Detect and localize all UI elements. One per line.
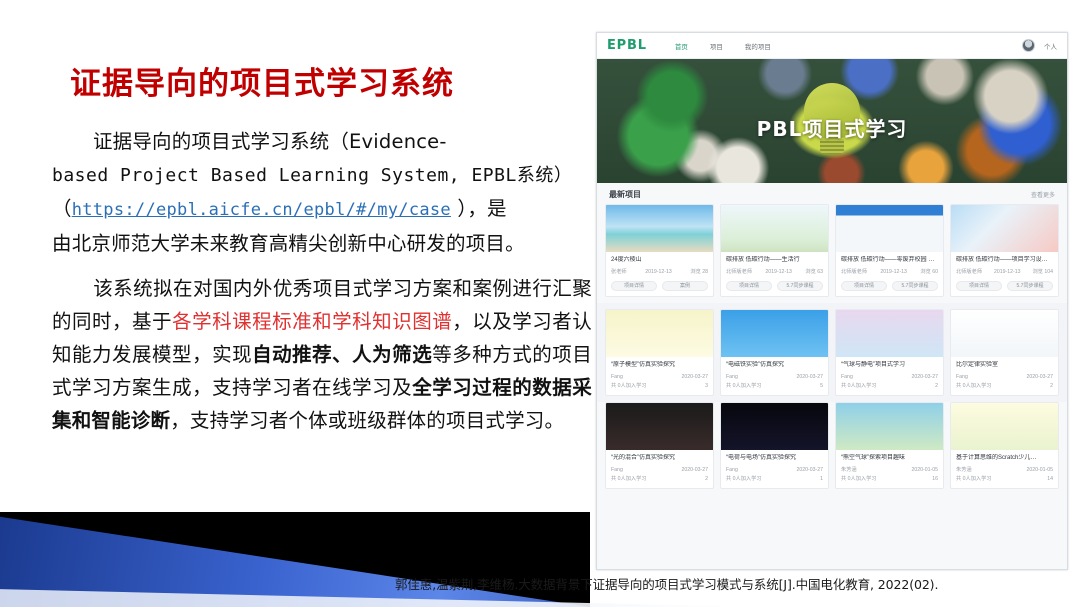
card-thumbnail [606, 310, 713, 357]
project-card[interactable]: “熊空气球”探索项目趣味 朱芳涵 2020-01-05 共 0人加入学习 16 [835, 402, 944, 489]
card-title: 基于计算思维的Scratch少儿… [956, 454, 1053, 463]
card-thumbnail [836, 205, 943, 252]
view-more-link[interactable]: 查看更多 [1031, 190, 1055, 199]
card-thumbnail [951, 403, 1058, 450]
card-learners: 共 0人加入学习 [956, 382, 991, 390]
card-secondary-button[interactable]: 5.7同步课程 [777, 281, 823, 291]
card-thumbnail [951, 310, 1058, 357]
project-card[interactable]: “电磁铁实验”仿真探究 Fang 2020-03-27 共 0人加入学习 5 [720, 309, 829, 396]
card-author: Fang [726, 466, 738, 474]
card-author: 北师版老师 [841, 268, 867, 276]
card-date: 2020-03-27 [681, 373, 708, 381]
project-row-3: “光的混合”仿真实验探究 Fang 2020-03-27 共 0人加入学习 2 … [597, 402, 1067, 495]
card-views: 2 [1050, 382, 1053, 390]
card-author: 北师版老师 [956, 268, 982, 276]
card-views: 14 [1047, 475, 1053, 483]
card-date: 2019-12-13 [765, 268, 792, 276]
card-learners: 共 0人加入学习 [726, 475, 761, 483]
card-date: 2019-12-13 [880, 268, 907, 276]
card-thumbnail [721, 310, 828, 357]
card-views: 2 [705, 475, 708, 483]
intro-text-4: 由北京师范大学未来教育高精尖创新中心研发的项目。 [52, 232, 525, 255]
card-detail-button[interactable]: 项目详情 [611, 281, 657, 291]
card-detail-button[interactable]: 项目详情 [841, 281, 887, 291]
card-author: 张老师 [611, 268, 627, 276]
latest-projects-bar: 最新项目 查看更多 [597, 183, 1067, 204]
project-card[interactable]: “光的混合”仿真实验探究 Fang 2020-03-27 共 0人加入学习 2 [605, 402, 714, 489]
card-title: 24度六棱山 [611, 256, 708, 265]
card-date: 2020-01-05 [911, 466, 938, 474]
epbl-website-screenshot: EPBL 首页 项目 我的项目 个人 PBL项目式学习 最新项目 查看更多 [596, 32, 1068, 570]
card-date: 2020-03-27 [796, 466, 823, 474]
project-card[interactable]: 碳排放 低碳行动——项目学习设计研… 北师版老师 2019-12-13 浏览 1… [950, 204, 1059, 297]
avatar[interactable] [1022, 39, 1035, 52]
card-views: 16 [932, 475, 938, 483]
card-secondary-button[interactable]: 案例 [662, 281, 708, 291]
desc-text-4: ，支持学习者个体或班级群体的项目式学习。 [170, 409, 564, 432]
card-thumbnail [721, 205, 828, 252]
card-author: Fang [841, 373, 853, 381]
card-learners: 共 0人加入学习 [726, 382, 761, 390]
project-card[interactable]: 比尔定律实验室 Fang 2020-03-27 共 0人加入学习 2 [950, 309, 1059, 396]
card-title: 比尔定律实验室 [956, 361, 1053, 370]
paragraph-description: 该系统拟在对国内外优秀项目式学习方案和案例进行汇聚的同时，基于各学科课程标准和学… [52, 272, 592, 437]
card-count: 浏览 60 [920, 268, 938, 276]
card-count: 浏览 28 [690, 268, 708, 276]
project-row-1: 24度六棱山 张老师 2019-12-13 浏览 28 项目详情 案例 碳排放 … [597, 204, 1067, 303]
card-count: 浏览 63 [805, 268, 823, 276]
desc-bold-recommend: 自动推荐、人为筛选 [252, 343, 432, 366]
card-author: Fang [611, 466, 623, 474]
nav-item-home[interactable]: 首页 [675, 41, 688, 51]
card-learners: 共 0人加入学习 [611, 382, 646, 390]
user-name-label: 个人 [1044, 41, 1057, 51]
left-content-column: 证据导向的项目式学习系统 证据导向的项目式学习系统（Evidence- base… [52, 66, 592, 437]
card-author: Fang [726, 373, 738, 381]
card-date: 2020-01-05 [1026, 466, 1053, 474]
card-views: 3 [705, 382, 708, 390]
card-date: 2020-03-27 [796, 373, 823, 381]
card-date: 2020-03-27 [681, 466, 708, 474]
card-views: 1 [820, 475, 823, 483]
card-detail-button[interactable]: 项目详情 [956, 281, 1002, 291]
slide-canvas: 证据导向的项目式学习系统 证据导向的项目式学习系统（Evidence- base… [0, 0, 1080, 607]
project-card[interactable]: “电荷与电场”仿真实验探究 Fang 2020-03-27 共 0人加入学习 1 [720, 402, 829, 489]
paragraph-intro: 证据导向的项目式学习系统（Evidence- based Project Bas… [52, 125, 592, 260]
card-title: “熊空气球”探索项目趣味 [841, 454, 938, 463]
desc-highlight-standards: 各学科课程标准和学科知识图谱 [172, 310, 452, 333]
card-title: “原子模型”仿真实验探究 [611, 361, 708, 370]
card-author: 北师版老师 [726, 268, 752, 276]
card-title: 碳排放 低碳行动——项目学习设计研… [956, 256, 1053, 265]
nav-item-my-projects[interactable]: 我的项目 [745, 41, 771, 51]
card-author: 朱芳涵 [841, 466, 857, 474]
card-title: 碳排放 低碳行动——生活行 [726, 256, 823, 265]
latest-projects-title: 最新项目 [609, 189, 641, 200]
card-date: 2020-03-27 [1026, 373, 1053, 381]
card-detail-button[interactable]: 项目详情 [726, 281, 772, 291]
page-title: 证据导向的项目式学习系统 [70, 66, 592, 103]
intro-text-2: based Project Based Learning System, EPB… [52, 165, 572, 186]
card-author: Fang [611, 373, 623, 381]
card-views: 2 [935, 382, 938, 390]
card-author: Fang [956, 373, 968, 381]
card-thumbnail [606, 205, 713, 252]
project-card[interactable]: 碳排放 低碳行动——生活行 北师版老师 2019-12-13 浏览 63 项目详… [720, 204, 829, 297]
project-row-2: “原子模型”仿真实验探究 Fang 2020-03-27 共 0人加入学习 3 … [597, 303, 1067, 402]
intro-text-1: 证据导向的项目式学习系统（Evidence- [93, 130, 447, 153]
card-date: 2020-03-27 [911, 373, 938, 381]
citation-reference: 郭佳惠,温紫荆,李维杨.大数据背景下证据导向的项目式学习模式与系统[J].中国电… [395, 574, 938, 593]
paren-close: ），是 [451, 197, 507, 220]
card-author: 朱芳涵 [956, 466, 972, 474]
card-date: 2019-12-13 [645, 268, 672, 276]
card-title: “电磁铁实验”仿真探究 [726, 361, 823, 370]
card-thumbnail [836, 403, 943, 450]
card-learners: 共 0人加入学习 [611, 475, 646, 483]
epbl-system-link[interactable]: https://epbl.aicfe.cn/epbl/#/my/case [72, 200, 451, 220]
card-learners: 共 0人加入学习 [841, 475, 876, 483]
paren-open: （ [52, 197, 72, 220]
card-secondary-button[interactable]: 5.7同步课程 [892, 281, 938, 291]
card-title: 碳排放 低碳行动——零废弃校园 基本… [841, 256, 938, 265]
epbl-logo: EPBL [607, 38, 647, 53]
card-secondary-button[interactable]: 5.7同步课程 [1007, 281, 1053, 291]
nav-item-projects[interactable]: 项目 [710, 41, 723, 51]
card-title: “光的混合”仿真实验探究 [611, 454, 708, 463]
project-card[interactable]: “气球与静电”项目式学习 Fang 2020-03-27 共 0人加入学习 2 [835, 309, 944, 396]
site-nav: 首页 项目 我的项目 [675, 41, 771, 51]
card-views: 5 [820, 382, 823, 390]
card-title: “气球与静电”项目式学习 [841, 361, 938, 370]
site-header: EPBL 首页 项目 我的项目 个人 [597, 33, 1067, 59]
card-thumbnail [836, 310, 943, 357]
hero-title: PBL项目式学习 [597, 113, 1067, 142]
card-learners: 共 0人加入学习 [956, 475, 991, 483]
card-learners: 共 0人加入学习 [841, 382, 876, 390]
card-date: 2019-12-13 [994, 268, 1021, 276]
project-card[interactable]: 碳排放 低碳行动——零废弃校园 基本… 北师版老师 2019-12-13 浏览 … [835, 204, 944, 297]
project-card[interactable]: “原子模型”仿真实验探究 Fang 2020-03-27 共 0人加入学习 3 [605, 309, 714, 396]
card-count: 浏览 104 [1033, 268, 1053, 276]
project-card[interactable]: 24度六棱山 张老师 2019-12-13 浏览 28 项目详情 案例 [605, 204, 714, 297]
card-thumbnail [951, 205, 1058, 252]
card-thumbnail [721, 403, 828, 450]
project-card[interactable]: 基于计算思维的Scratch少儿… 朱芳涵 2020-01-05 共 0人加入学… [950, 402, 1059, 489]
header-user-area[interactable]: 个人 [1022, 39, 1057, 52]
card-title: “电荷与电场”仿真实验探究 [726, 454, 823, 463]
hero-banner[interactable]: PBL项目式学习 [597, 59, 1067, 183]
card-thumbnail [606, 403, 713, 450]
